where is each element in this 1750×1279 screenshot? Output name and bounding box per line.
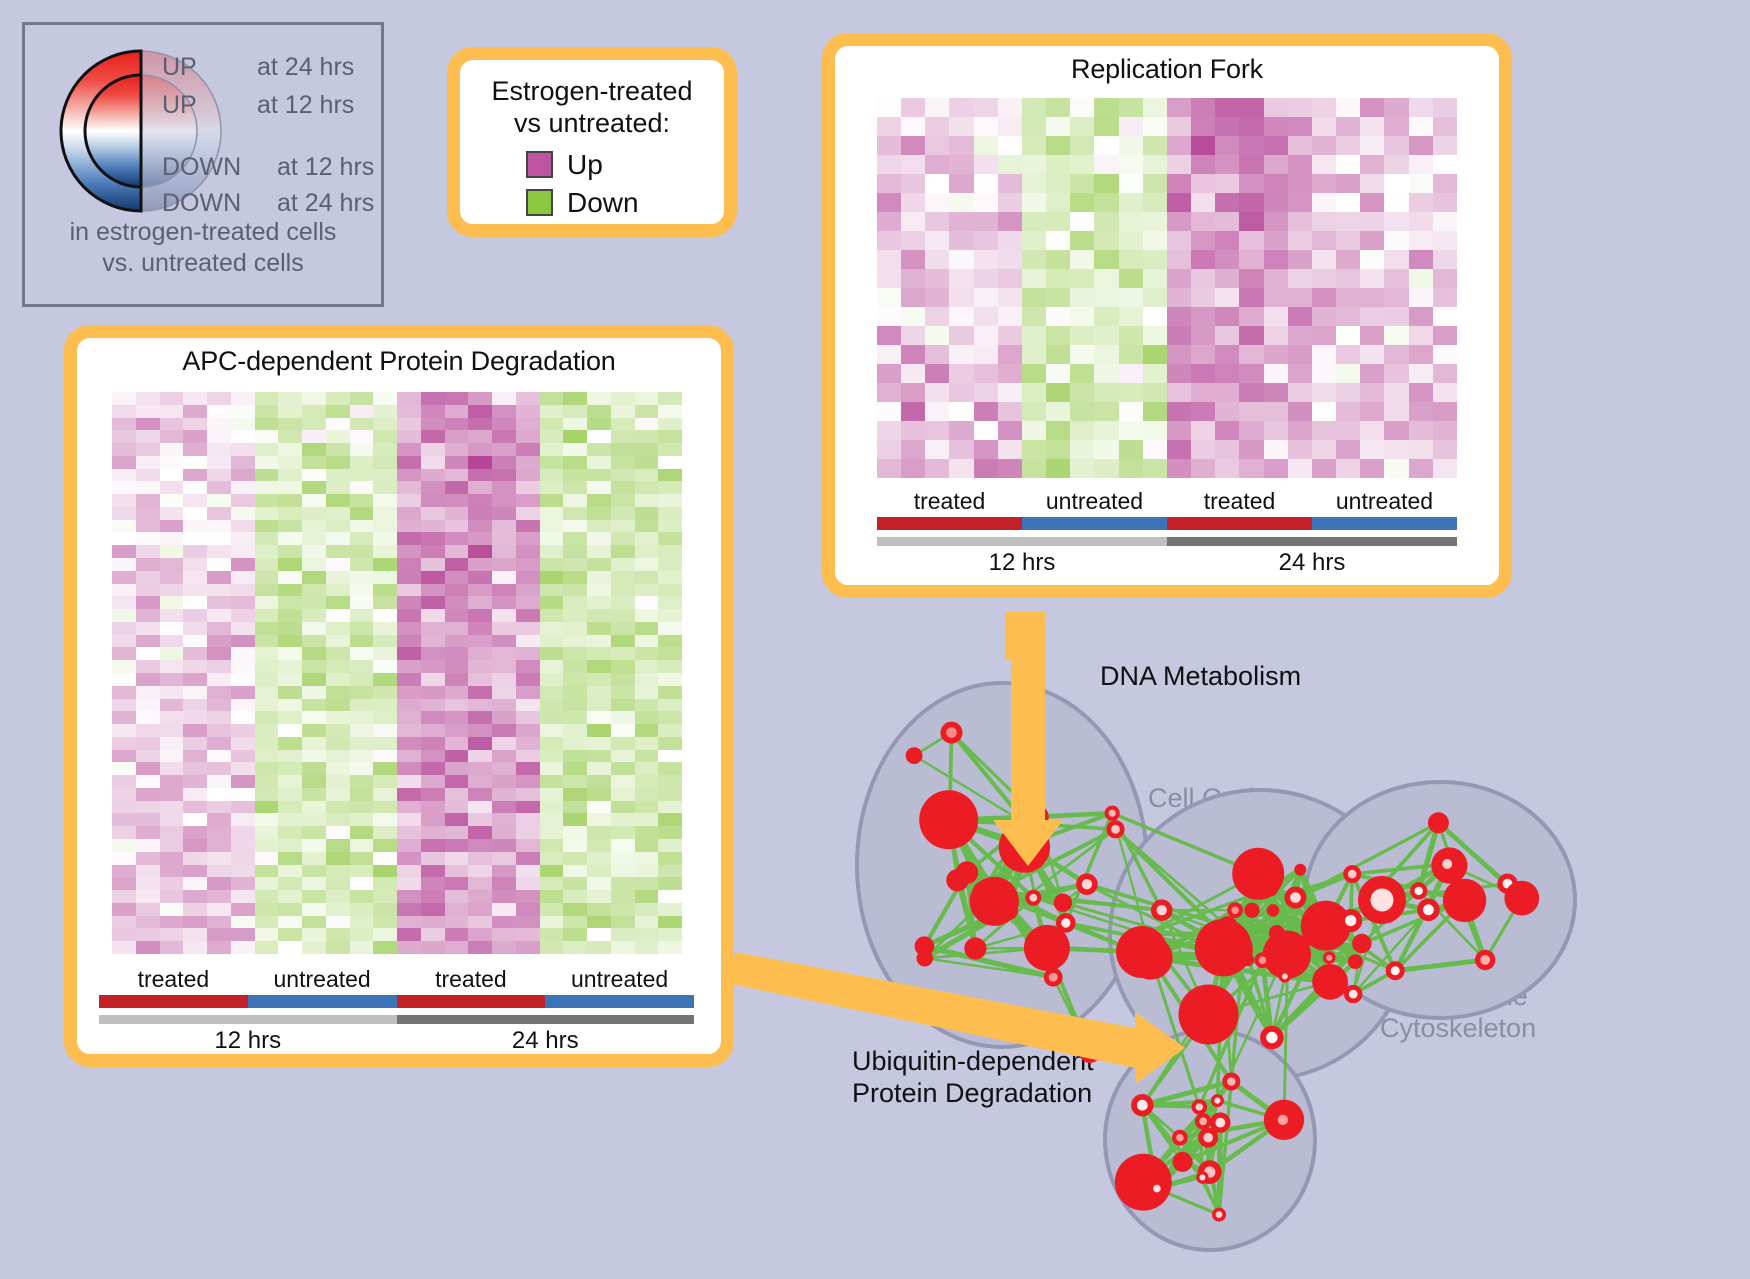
color-key-footer-line2: vs. untreated cells xyxy=(25,248,381,279)
bar-12hrs xyxy=(877,537,1167,546)
group-name-row: treated untreated treated untreated xyxy=(99,966,694,993)
timepoint-label-12: 12 hrs xyxy=(877,549,1167,577)
legend-up-label: Up xyxy=(567,149,603,181)
color-key-footer: in estrogen-treated cells vs. untreated … xyxy=(25,217,381,278)
color-key-box: UP at 24 hrs UP at 12 hrs DOWN at 12 hrs… xyxy=(22,22,384,307)
figure-canvas: UP at 24 hrs UP at 12 hrs DOWN at 12 hrs… xyxy=(0,0,1750,1279)
treatment-color-bar xyxy=(99,995,694,1008)
timepoint-label-row: 12 hrs 24 hrs xyxy=(877,549,1457,577)
key-up-24-time: at 24 hrs xyxy=(257,53,354,82)
timepoint-color-bar xyxy=(99,1015,694,1024)
timepoint-label-24: 24 hrs xyxy=(1167,549,1457,577)
bar-24hrs xyxy=(1167,537,1457,546)
key-up-12-label: UP xyxy=(162,91,197,120)
legend-title: Estrogen-treated vs untreated: xyxy=(460,76,724,140)
treatment-color-bar xyxy=(877,517,1457,530)
timepoint-label-row: 12 hrs 24 hrs xyxy=(99,1027,694,1055)
bar-treated-24 xyxy=(1167,517,1312,530)
apc-degradation-heatmap xyxy=(112,392,682,954)
group-label-treated-12: treated xyxy=(99,966,248,993)
bar-treated-12 xyxy=(877,517,1022,530)
timepoint-color-bar xyxy=(877,537,1457,546)
legend-item-down: Down xyxy=(526,184,724,222)
timepoint-label-24: 24 hrs xyxy=(397,1027,695,1055)
group-label-untreated-24: untreated xyxy=(545,966,694,993)
replication-fork-panel: Replication Fork treated untreated treat… xyxy=(822,33,1512,598)
replication-fork-title: Replication Fork xyxy=(835,54,1499,85)
bar-untreated-12 xyxy=(1022,517,1167,530)
group-label-treated-24: treated xyxy=(397,966,546,993)
up-swatch-icon xyxy=(526,151,553,178)
down-swatch-icon xyxy=(526,189,553,216)
group-label-untreated-12: untreated xyxy=(248,966,397,993)
apc-degradation-title: APC-dependent Protein Degradation xyxy=(77,346,721,377)
group-name-row: treated untreated treated untreated xyxy=(877,488,1457,515)
bar-24hrs xyxy=(397,1015,695,1024)
group-label-treated-12: treated xyxy=(877,488,1022,515)
bar-treated-12 xyxy=(99,995,248,1008)
apc-degradation-axis: treated untreated treated untreated 12 h… xyxy=(99,966,694,1055)
bar-untreated-24 xyxy=(1312,517,1457,530)
group-label-untreated-24: untreated xyxy=(1312,488,1457,515)
replication-fork-heatmap xyxy=(877,98,1457,478)
bar-untreated-24 xyxy=(545,995,694,1008)
key-down-24-time: at 24 hrs xyxy=(277,189,374,218)
legend-item-up: Up xyxy=(526,146,724,184)
bar-treated-24 xyxy=(397,995,546,1008)
color-key-footer-line1: in estrogen-treated cells xyxy=(25,217,381,248)
apc-degradation-panel: APC-dependent Protein Degradation treate… xyxy=(64,325,734,1067)
group-label-untreated-12: untreated xyxy=(1022,488,1167,515)
bar-12hrs xyxy=(99,1015,397,1024)
key-down-24-label: DOWN xyxy=(162,189,241,218)
group-label-treated-24: treated xyxy=(1167,488,1312,515)
legend-title-line1: Estrogen-treated xyxy=(460,76,724,108)
key-up-24-label: UP xyxy=(162,53,197,82)
key-down-12-label: DOWN xyxy=(162,153,241,182)
legend-down-label: Down xyxy=(567,187,639,219)
arrow-to-dna-metabolism xyxy=(993,612,1063,866)
key-down-12-time: at 12 hrs xyxy=(277,153,374,182)
updown-legend-panel: Estrogen-treated vs untreated: Up Down xyxy=(447,47,737,237)
replication-fork-axis: treated untreated treated untreated 12 h… xyxy=(877,488,1457,577)
legend-items: Up Down xyxy=(460,146,724,222)
key-up-12-time: at 12 hrs xyxy=(257,91,354,120)
arrow-to-ubiquitin-cluster xyxy=(731,952,1185,1084)
timepoint-label-12: 12 hrs xyxy=(99,1027,397,1055)
legend-title-line2: vs untreated: xyxy=(460,108,724,140)
bar-untreated-12 xyxy=(248,995,397,1008)
